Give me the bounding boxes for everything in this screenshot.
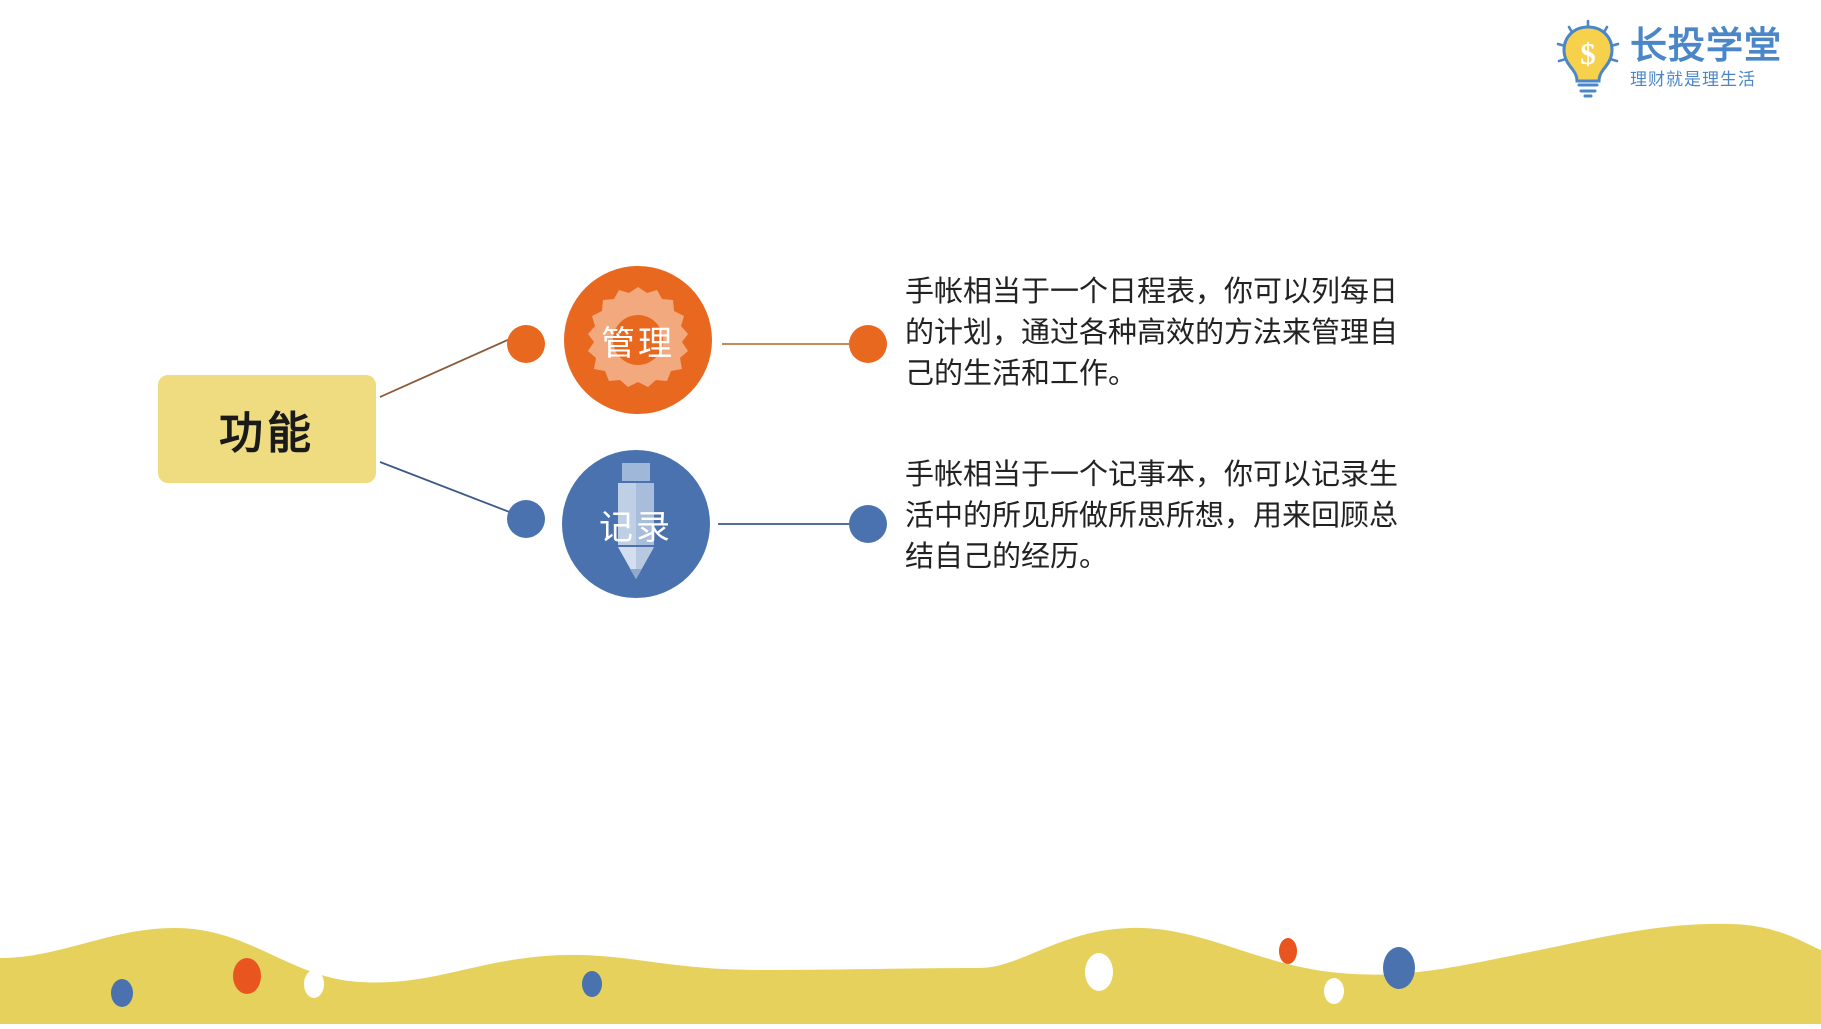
connector-dot-record-right [849, 505, 887, 543]
logo-tagline: 理财就是理生活 [1630, 69, 1782, 91]
svg-text:$: $ [1580, 36, 1596, 71]
wave-dot-white-3 [1324, 978, 1344, 1004]
node-record-label: 记录 [599, 500, 673, 549]
wave-dot-white-1 [304, 970, 324, 998]
description-manage: 手帐相当于一个日程表，你可以列每日的计划，通过各种高效的方法来管理自己的生活和工… [905, 272, 1405, 395]
node-manage[interactable]: 管理 [564, 266, 712, 414]
wave-dot-orange-1 [233, 958, 261, 994]
connector-dot-record-left [507, 500, 545, 538]
wave-dot-orange-2 [1279, 938, 1297, 964]
wave-shape [0, 924, 1821, 1024]
connector-dot-manage-right [849, 325, 887, 363]
description-record: 手帐相当于一个记事本，你可以记录生活中的所见所做所思所想，用来回顾总结自己的经历… [905, 455, 1405, 578]
logo-text-block: 长投学堂 理财就是理生活 [1630, 25, 1782, 91]
lightbulb-dollar-icon: $ [1552, 18, 1624, 98]
slide-canvas: $ 长投学堂 理财就是理生活 功能 管理 [0, 0, 1821, 1024]
connector-dot-manage-left [507, 325, 545, 363]
root-node-label: 功能 [219, 397, 315, 461]
line-root-to-record [380, 462, 512, 513]
wave-dot-blue-3 [1383, 947, 1415, 989]
bottom-wave-decoration [0, 894, 1821, 1024]
node-manage-label: 管理 [601, 316, 675, 365]
node-record[interactable]: 记录 [562, 450, 710, 598]
root-node-box[interactable]: 功能 [158, 375, 376, 483]
logo-title: 长投学堂 [1630, 25, 1782, 67]
wave-dot-white-2 [1085, 953, 1113, 991]
line-root-to-manage [380, 338, 512, 397]
wave-dot-blue-2 [582, 971, 602, 997]
wave-dot-blue-1 [111, 979, 133, 1007]
brand-logo: $ 长投学堂 理财就是理生活 [1552, 16, 1808, 100]
